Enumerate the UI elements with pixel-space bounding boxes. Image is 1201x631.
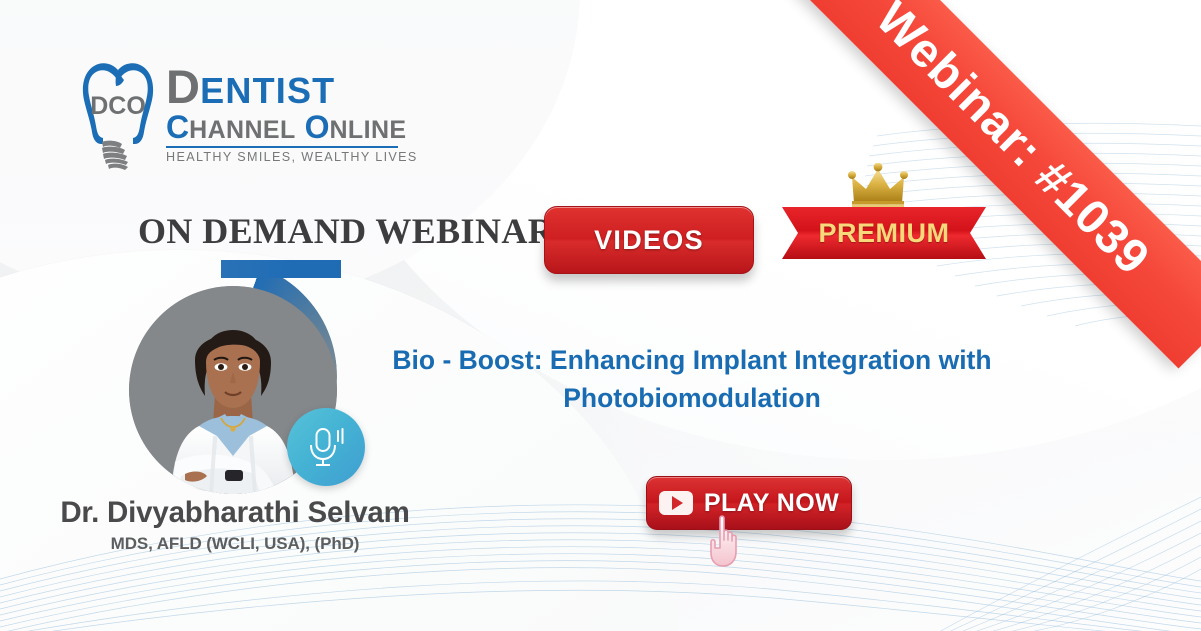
logo-d-letter: D (166, 60, 200, 113)
youtube-play-icon (659, 491, 693, 515)
crown-icon (848, 163, 920, 209)
logo-entist-letters: ENTIST (200, 70, 335, 111)
premium-ribbon: PREMIUM (782, 207, 986, 259)
webinar-banner: DCO DENTIST CHANNEL ONLINE HEALTHY SMILE… (0, 0, 1201, 631)
tooth-implant-logo-icon: DCO (72, 60, 164, 172)
svg-text:DCO: DCO (90, 92, 146, 120)
videos-button-label: VIDEOS (594, 225, 704, 256)
play-now-label: PLAY NOW (704, 489, 839, 518)
logo-o-letter: O (296, 109, 330, 145)
speaker-credentials: MDS, AFLD (WCLI, USA), (PhD) (0, 534, 470, 554)
on-demand-webinar-label: ON DEMAND WEBINAR (138, 210, 554, 252)
speaker-photo-group (105, 260, 345, 505)
webinar-title: Bio - Boost: Enhancing Implant Integrati… (366, 342, 1018, 417)
microphone-badge (287, 408, 365, 486)
premium-label: PREMIUM (819, 218, 950, 249)
logo-line-channel-online: CHANNEL ONLINE (166, 111, 412, 143)
play-now-button[interactable]: PLAY NOW (646, 476, 852, 530)
logo-nline-letters: NLINE (329, 116, 406, 144)
logo-c-letter: C (166, 109, 189, 145)
logo-wordmark: DENTIST CHANNEL ONLINE HEALTHY SMILES, W… (166, 64, 412, 164)
play-triangle-icon (672, 496, 683, 510)
microphone-icon (305, 424, 347, 470)
logo-tagline: HEALTHY SMILES, WEALTHY LIVES (166, 150, 412, 164)
videos-button[interactable]: VIDEOS (544, 206, 754, 274)
premium-badge: PREMIUM (782, 163, 986, 275)
speaker-name: Dr. Divyabharathi Selvam (0, 496, 470, 530)
logo-hannel-letters: HANNEL (189, 116, 296, 144)
speaker-accent-arc-cap (221, 260, 341, 278)
brand-logo[interactable]: DCO DENTIST CHANNEL ONLINE HEALTHY SMILE… (72, 58, 412, 178)
logo-divider-rule (166, 146, 398, 148)
logo-line-dentist: DENTIST (166, 64, 412, 109)
